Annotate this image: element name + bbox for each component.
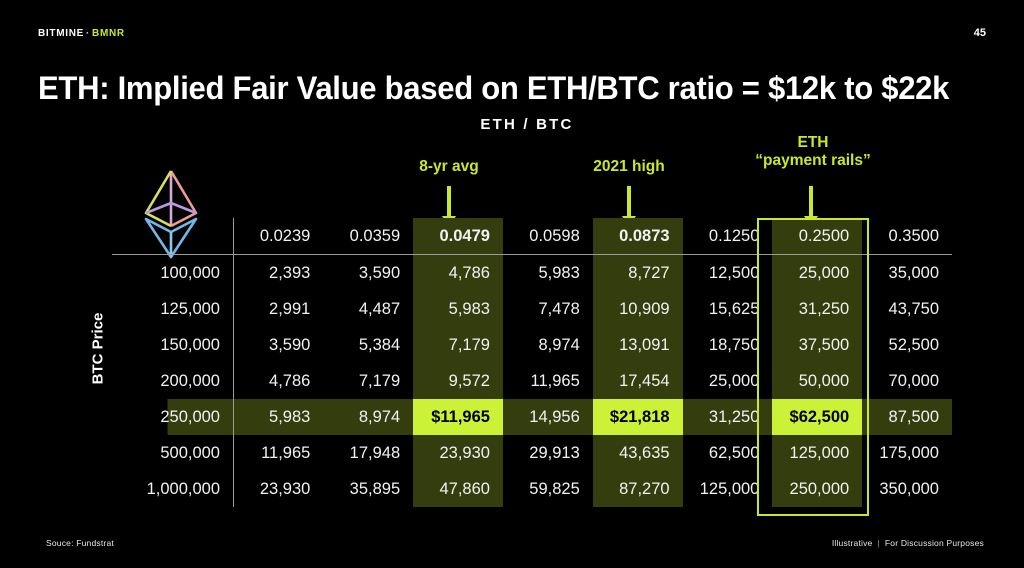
table-row: 500,000 11,965 17,948 23,930 29,913 43,6… bbox=[112, 435, 952, 471]
cell: 23,930 bbox=[234, 471, 324, 507]
callout-payment-rails-line1: ETH bbox=[718, 134, 908, 152]
col-header-1: 0.0359 bbox=[323, 218, 413, 255]
cell: 3,590 bbox=[234, 327, 324, 363]
cell: 125,000 bbox=[772, 435, 862, 471]
cell: 7,179 bbox=[323, 363, 413, 399]
cell: 4,487 bbox=[323, 291, 413, 327]
cell: 15,625 bbox=[683, 291, 773, 327]
brand-name: BITMINE bbox=[38, 28, 84, 39]
cell: 7,179 bbox=[413, 327, 503, 363]
col-header-7: 0.3500 bbox=[862, 218, 952, 255]
cell-implied-value-8yr: $11,965 bbox=[413, 399, 503, 435]
row-label: 100,000 bbox=[112, 255, 234, 292]
callout-2021-high: 2021 high bbox=[552, 158, 706, 176]
table-header-row: 0.0239 0.0359 0.0479 0.0598 0.0873 0.125… bbox=[112, 218, 952, 255]
col-header-2: 0.0479 bbox=[413, 218, 503, 255]
brand-separator: · bbox=[84, 28, 92, 39]
cell: 250,000 bbox=[772, 471, 862, 507]
cell: 62,500 bbox=[683, 435, 773, 471]
cell: 5,983 bbox=[503, 255, 593, 292]
cell: 87,270 bbox=[593, 471, 683, 507]
cell: 5,384 bbox=[323, 327, 413, 363]
brand-ticker: BMNR bbox=[92, 28, 125, 39]
cell: 9,572 bbox=[413, 363, 503, 399]
cell: 18,750 bbox=[683, 327, 773, 363]
cell: 8,727 bbox=[593, 255, 683, 292]
table-row: 150,000 3,590 5,384 7,179 8,974 13,091 1… bbox=[112, 327, 952, 363]
cell: 4,786 bbox=[234, 363, 324, 399]
col-header-6: 0.2500 bbox=[772, 218, 862, 255]
table-row: 1,000,000 23,930 35,895 47,860 59,825 87… bbox=[112, 471, 952, 507]
row-label: 125,000 bbox=[112, 291, 234, 327]
row-axis-title: BTC Price bbox=[89, 313, 106, 385]
cell-implied-value-payment-rails: $62,500 bbox=[772, 399, 862, 435]
cell: 8,974 bbox=[503, 327, 593, 363]
cell: 50,000 bbox=[772, 363, 862, 399]
cell: 2,393 bbox=[234, 255, 324, 292]
footer-disclaimer: Illustrative|For Discussion Purposes bbox=[832, 538, 984, 548]
col-header-4: 0.0873 bbox=[593, 218, 683, 255]
cell: 47,860 bbox=[413, 471, 503, 507]
col-header-0: 0.0239 bbox=[234, 218, 324, 255]
cell: 175,000 bbox=[862, 435, 952, 471]
cell: 5,983 bbox=[234, 399, 324, 435]
footer-discussion-purposes: For Discussion Purposes bbox=[885, 538, 984, 548]
cell: 17,948 bbox=[323, 435, 413, 471]
cell: 37,500 bbox=[772, 327, 862, 363]
row-label: 1,000,000 bbox=[112, 471, 234, 507]
cell: 17,454 bbox=[593, 363, 683, 399]
column-axis-title: ETH / BTC bbox=[0, 116, 1024, 133]
footer-separator: | bbox=[872, 538, 884, 548]
cell: 5,983 bbox=[413, 291, 503, 327]
page-number: 45 bbox=[974, 27, 986, 39]
brand-lockup: BITMINE·BMNR bbox=[38, 28, 125, 39]
implied-value-matrix: 0.0239 0.0359 0.0479 0.0598 0.0873 0.125… bbox=[112, 218, 952, 507]
callout-payment-rails: ETH “payment rails” bbox=[718, 134, 908, 171]
col-header-5: 0.1250 bbox=[683, 218, 773, 255]
matrix-body: 100,000 2,393 3,590 4,786 5,983 8,727 12… bbox=[112, 255, 952, 508]
cell: 350,000 bbox=[862, 471, 952, 507]
cell: 2,991 bbox=[234, 291, 324, 327]
cell: 13,091 bbox=[593, 327, 683, 363]
cell: 29,913 bbox=[503, 435, 593, 471]
matrix-table: 0.0239 0.0359 0.0479 0.0598 0.0873 0.125… bbox=[112, 218, 952, 507]
cell: 11,965 bbox=[234, 435, 324, 471]
corner-cell bbox=[112, 218, 234, 255]
callout-payment-rails-line2: “payment rails” bbox=[718, 152, 908, 170]
cell: 4,786 bbox=[413, 255, 503, 292]
cell: 14,956 bbox=[503, 399, 593, 435]
cell: 10,909 bbox=[593, 291, 683, 327]
cell-implied-value-2021: $21,818 bbox=[593, 399, 683, 435]
cell: 70,000 bbox=[862, 363, 952, 399]
row-label: 500,000 bbox=[112, 435, 234, 471]
callout-8yr-avg: 8-yr avg bbox=[374, 158, 524, 176]
row-label: 200,000 bbox=[112, 363, 234, 399]
callout-2021-high-label: 2021 high bbox=[593, 158, 665, 175]
cell: 31,250 bbox=[772, 291, 862, 327]
cell: 125,000 bbox=[683, 471, 773, 507]
cell: 43,750 bbox=[862, 291, 952, 327]
footer-illustrative: Illustrative bbox=[832, 538, 873, 548]
table-row: 100,000 2,393 3,590 4,786 5,983 8,727 12… bbox=[112, 255, 952, 292]
table-row: 125,000 2,991 4,487 5,983 7,478 10,909 1… bbox=[112, 291, 952, 327]
page-title: ETH: Implied Fair Value based on ETH/BTC… bbox=[38, 70, 969, 107]
cell: 11,965 bbox=[503, 363, 593, 399]
cell: 3,590 bbox=[323, 255, 413, 292]
source-note: Souce: Fundstrat bbox=[46, 538, 114, 548]
table-row-highlighted: 250,000 5,983 8,974 $11,965 14,956 $21,8… bbox=[112, 399, 952, 435]
cell: 25,000 bbox=[683, 363, 773, 399]
table-row: 200,000 4,786 7,179 9,572 11,965 17,454 … bbox=[112, 363, 952, 399]
cell: 23,930 bbox=[413, 435, 503, 471]
cell: 35,895 bbox=[323, 471, 413, 507]
cell: 87,500 bbox=[862, 399, 952, 435]
row-label: 250,000 bbox=[112, 399, 234, 435]
cell: 12,500 bbox=[683, 255, 773, 292]
cell: 35,000 bbox=[862, 255, 952, 292]
callout-8yr-avg-label: 8-yr avg bbox=[419, 158, 478, 175]
col-header-3: 0.0598 bbox=[503, 218, 593, 255]
cell: 59,825 bbox=[503, 471, 593, 507]
row-label: 150,000 bbox=[112, 327, 234, 363]
cell: 43,635 bbox=[593, 435, 683, 471]
cell: 7,478 bbox=[503, 291, 593, 327]
cell: 31,250 bbox=[683, 399, 773, 435]
cell: 25,000 bbox=[772, 255, 862, 292]
cell: 8,974 bbox=[323, 399, 413, 435]
matrix-header: 0.0239 0.0359 0.0479 0.0598 0.0873 0.125… bbox=[112, 218, 952, 255]
cell: 52,500 bbox=[862, 327, 952, 363]
